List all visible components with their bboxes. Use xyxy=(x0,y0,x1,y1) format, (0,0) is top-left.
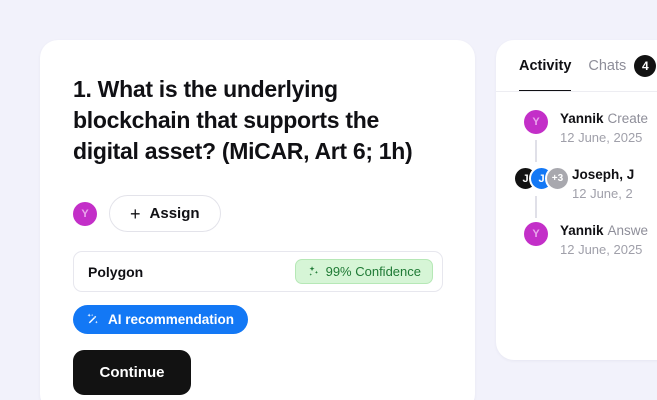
plus-icon: + xyxy=(130,205,141,223)
avatar-initial: J xyxy=(538,173,544,185)
avatar[interactable]: Y xyxy=(524,110,548,134)
avatar-initial: Y xyxy=(81,208,88,220)
activity-date: 12 June, 2 xyxy=(572,184,638,204)
activity-date: 12 June, 2025 xyxy=(560,128,648,148)
confidence-badge: 99% Confidence xyxy=(295,259,433,284)
activity-line: YannikAnswe xyxy=(560,222,648,240)
avatar-column: J J +3 xyxy=(524,166,548,204)
activity-feed: Y YannikCreate 12 June, 2025 J J xyxy=(496,92,657,260)
continue-button[interactable]: Continue xyxy=(73,350,191,395)
avatar-group[interactable]: J J +3 xyxy=(513,166,559,191)
activity-action: Create xyxy=(608,111,649,126)
answer-value: Polygon xyxy=(88,264,295,280)
chats-count-badge: 4 xyxy=(634,55,656,77)
timeline-connector xyxy=(535,140,537,162)
list-item-body: YannikCreate 12 June, 2025 xyxy=(560,110,648,148)
confidence-label: 99% Confidence xyxy=(326,264,421,279)
activity-actor: Yannik xyxy=(560,111,604,126)
ai-recommendation-label: AI recommendation xyxy=(108,312,234,327)
avatar-column: Y xyxy=(524,222,548,260)
list-item-body: Joseph, J 12 June, 2 xyxy=(560,166,638,204)
sparkle-icon xyxy=(307,265,320,278)
activity-panel: Activity Chats 4 Y YannikCreate 12 June,… xyxy=(496,40,657,360)
activity-actor: Joseph, J xyxy=(572,167,634,182)
list-item[interactable]: Y YannikAnswe 12 June, 2025 xyxy=(496,222,657,260)
assign-button-label: Assign xyxy=(150,205,200,222)
avatar[interactable]: Y xyxy=(73,202,97,226)
activity-date: 12 June, 2025 xyxy=(560,240,648,260)
assign-button[interactable]: + Assign xyxy=(109,195,221,232)
activity-line: YannikCreate xyxy=(560,110,648,128)
assign-row: Y + Assign xyxy=(73,195,221,232)
list-item[interactable]: J J +3 Joseph, J 12 June, 2 xyxy=(496,166,657,204)
question-card: 1. What is the underlying blockchain tha… xyxy=(40,40,475,400)
ai-recommendation-button[interactable]: AI recommendation xyxy=(73,305,248,334)
magic-wand-icon xyxy=(85,312,100,327)
timeline-connector xyxy=(535,196,537,218)
activity-action: Answe xyxy=(608,223,649,238)
activity-line: Joseph, J xyxy=(572,166,638,184)
answer-input[interactable]: Polygon 99% Confidence xyxy=(73,251,443,292)
page-title: 1. What is the underlying blockchain tha… xyxy=(73,74,448,167)
tab-chats[interactable]: Chats xyxy=(588,40,626,92)
avatar-column: Y xyxy=(524,110,548,148)
avatar-initial: J xyxy=(522,173,528,185)
avatar-overflow-count[interactable]: +3 xyxy=(545,166,570,191)
tab-activity[interactable]: Activity xyxy=(519,40,571,92)
avatar[interactable]: Y xyxy=(524,222,548,246)
list-item[interactable]: Y YannikCreate 12 June, 2025 xyxy=(496,110,657,148)
tab-bar: Activity Chats 4 xyxy=(496,40,657,92)
avatar-initial: +3 xyxy=(552,173,563,184)
activity-actor: Yannik xyxy=(560,223,604,238)
list-item-body: YannikAnswe 12 June, 2025 xyxy=(560,222,648,260)
avatar-initial: Y xyxy=(532,228,539,240)
avatar-initial: Y xyxy=(532,116,539,128)
